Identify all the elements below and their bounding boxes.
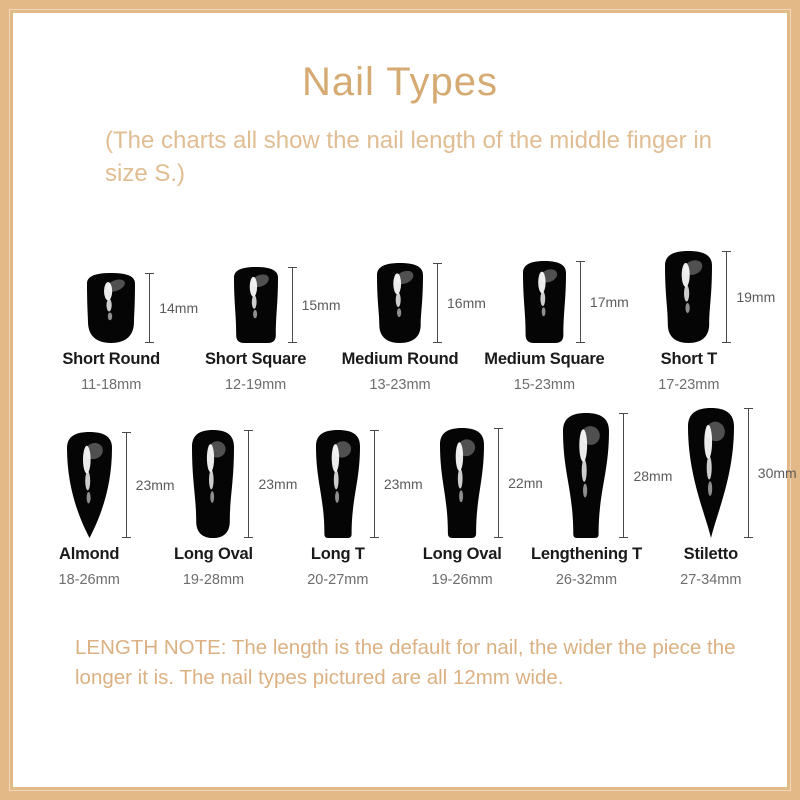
dimension-indicator: 30mm <box>744 408 797 538</box>
nail-type-card: 30mm Stiletto 27-34mm <box>649 406 773 588</box>
nail-type-card: 14mm Short Round 11-18mm <box>39 238 183 393</box>
nail-type-name: Long Oval <box>423 545 502 564</box>
nail-type-card: 23mm Almond 18-26mm <box>27 406 151 588</box>
page-subtitle: (The charts all show the nail length of … <box>105 124 725 190</box>
nail-length-range: 19-26mm <box>432 572 493 588</box>
nail-figure: 17mm <box>523 238 566 343</box>
nail-type-name: Lengthening T <box>531 545 642 564</box>
nail-type-card: 23mm Long Oval 19-28mm <box>151 406 275 588</box>
nail-type-card: 15mm Short Square 12-19mm <box>183 238 327 393</box>
nail-icon: 23mm <box>67 432 112 538</box>
nail-icon: 19mm <box>665 251 712 343</box>
nail-length-range: 20-27mm <box>307 572 368 588</box>
nail-row-long: 23mm Almond 18-26mm 23mm <box>13 406 787 588</box>
chart-canvas: Nail Types (The charts all show the nail… <box>13 13 787 787</box>
nail-type-card: 19mm Short T 17-23mm <box>617 238 761 393</box>
nail-icon: 16mm <box>377 263 423 343</box>
nail-type-name: Short Round <box>62 350 160 369</box>
nail-type-name: Medium Round <box>342 350 459 369</box>
decorative-frame: Nail Types (The charts all show the nail… <box>0 0 800 800</box>
nail-figure: 28mm <box>563 406 609 538</box>
nail-type-card: 23mm Long T 20-27mm <box>276 406 400 588</box>
nail-figure: 15mm <box>234 238 278 343</box>
nail-length-range: 12-19mm <box>225 377 286 393</box>
page-title: Nail Types <box>13 62 787 102</box>
nail-type-name: Almond <box>59 545 119 564</box>
nail-icon: 23mm <box>316 430 360 538</box>
nail-length-range: 27-34mm <box>680 572 741 588</box>
nail-figure: 30mm <box>688 406 734 538</box>
nail-length-range: 18-26mm <box>59 572 120 588</box>
length-note: LENGTH NOTE: The length is the default f… <box>75 633 747 692</box>
nail-figure: 19mm <box>665 238 712 343</box>
dimension-label: 19mm <box>736 289 775 305</box>
nail-figure: 14mm <box>87 238 135 343</box>
nail-length-range: 15-23mm <box>514 377 575 393</box>
dimension-indicator: 19mm <box>722 251 775 343</box>
nail-type-card: 17mm Medium Square 15-23mm <box>472 238 616 393</box>
nail-type-card: 28mm Lengthening T 26-32mm <box>524 406 648 588</box>
nail-figure: 23mm <box>67 406 112 538</box>
nail-type-name: Stiletto <box>684 545 738 564</box>
nail-icon: 23mm <box>192 430 234 538</box>
nail-type-name: Long T <box>311 545 365 564</box>
nail-length-range: 11-18mm <box>81 377 141 393</box>
nail-icon: 30mm <box>688 408 734 538</box>
nail-icon: 22mm <box>440 428 484 538</box>
nail-type-card: 16mm Medium Round 13-23mm <box>328 238 472 393</box>
nail-type-name: Short T <box>661 350 717 369</box>
nail-row-short: 14mm Short Round 11-18mm 15mm <box>13 238 787 393</box>
nail-figure: 23mm <box>192 406 234 538</box>
nail-length-range: 13-23mm <box>369 377 430 393</box>
nail-figure: 22mm <box>440 406 484 538</box>
nail-figure: 16mm <box>377 238 423 343</box>
nail-type-name: Long Oval <box>174 545 253 564</box>
nail-figure: 23mm <box>316 406 360 538</box>
nail-length-range: 17-23mm <box>658 377 719 393</box>
nail-length-range: 26-32mm <box>556 572 617 588</box>
nail-type-card: 22mm Long Oval 19-26mm <box>400 406 524 588</box>
nail-icon: 28mm <box>563 413 609 538</box>
nail-icon: 14mm <box>87 273 135 343</box>
nail-icon: 15mm <box>234 267 278 343</box>
nail-length-range: 19-28mm <box>183 572 244 588</box>
nail-type-name: Medium Square <box>484 350 604 369</box>
nail-icon: 17mm <box>523 261 566 343</box>
dimension-label: 30mm <box>758 465 797 481</box>
nail-type-name: Short Square <box>205 350 306 369</box>
